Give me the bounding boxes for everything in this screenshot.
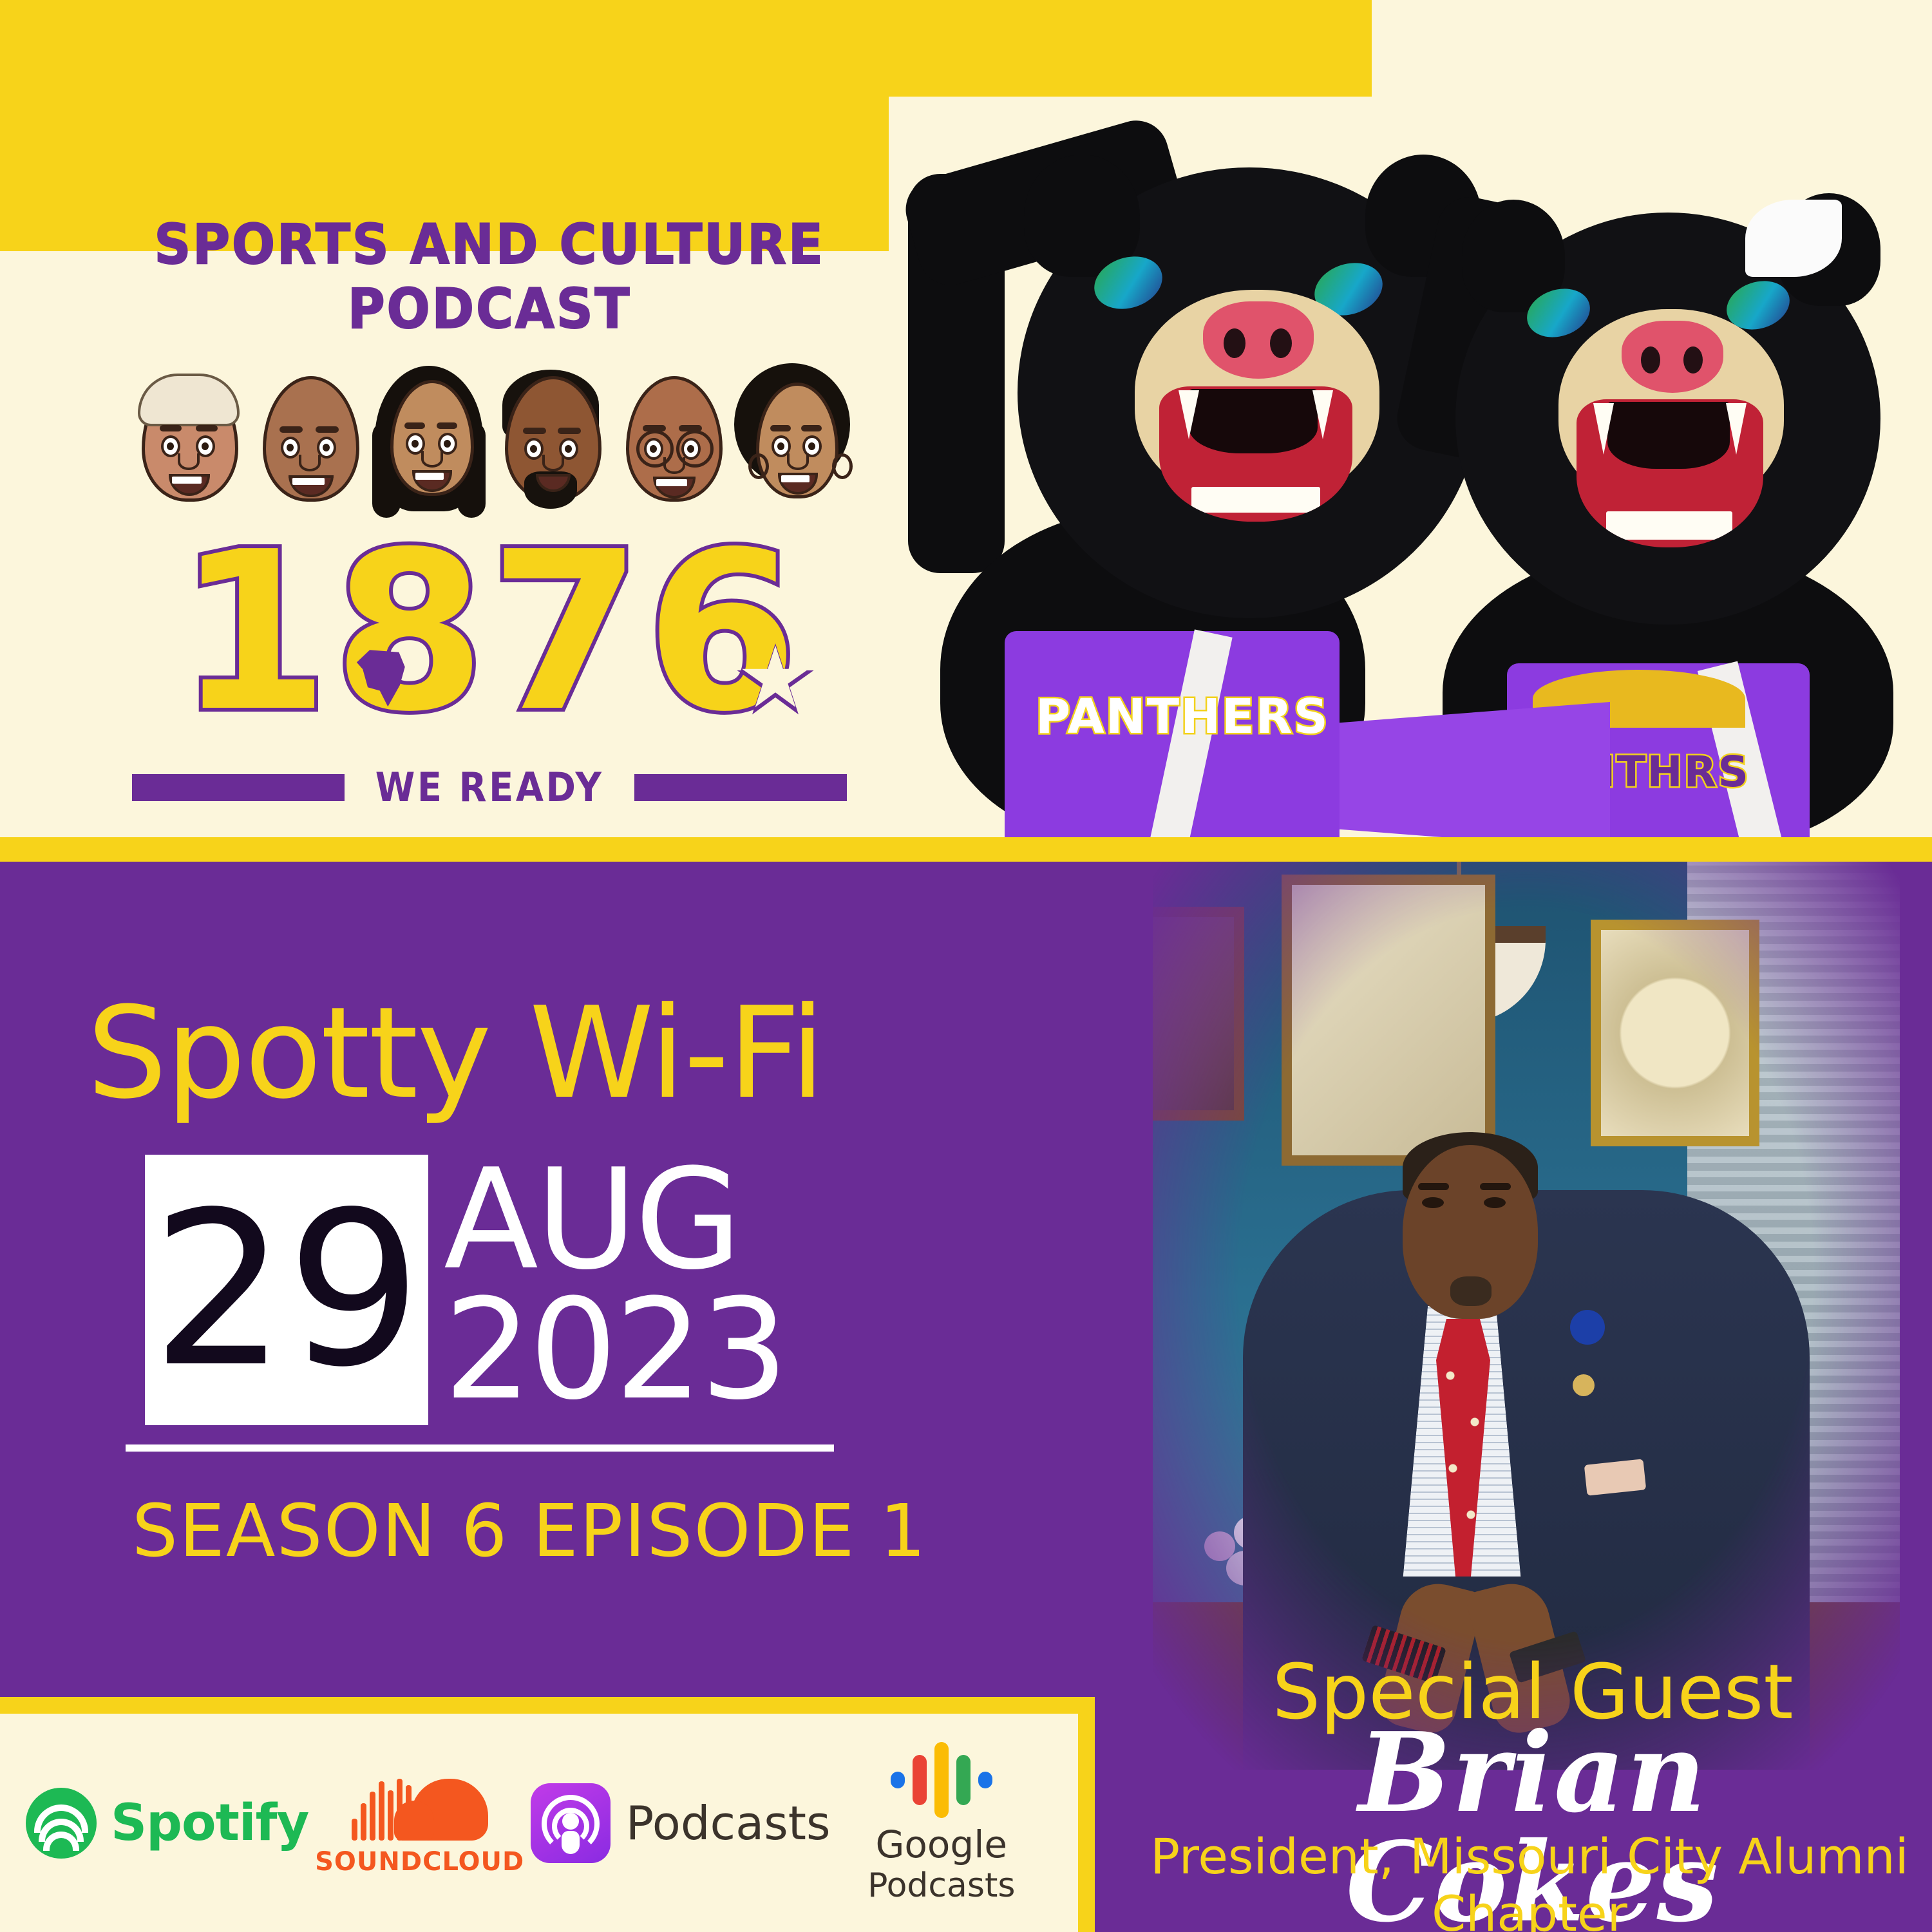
- jersey-text-left: PANTHERS: [1036, 689, 1329, 744]
- platform-google-podcasts[interactable]: Google Podcasts: [831, 1741, 1053, 1905]
- platform-spotify[interactable]: Spotify: [26, 1788, 308, 1859]
- wall-frame-left: [1282, 875, 1495, 1166]
- mascot-bow-icon: [1745, 200, 1842, 277]
- google-podcasts-label-top: Google: [875, 1823, 1007, 1866]
- show-tagline: SPORTS AND CULTURE PODCAST: [128, 213, 851, 341]
- guest-photo: [1153, 862, 1900, 1770]
- soundcloud-label: SOUNDCLOUD: [315, 1847, 524, 1877]
- host-avatar-longhair: [371, 363, 487, 505]
- spotify-icon: [26, 1788, 97, 1859]
- apple-podcasts-label: Podcasts: [626, 1796, 831, 1850]
- apple-podcasts-icon: [531, 1783, 611, 1863]
- host-avatar-row: [97, 357, 882, 505]
- top-panel: SPORTS AND CULTURE PODCAST: [0, 0, 1932, 837]
- horizontal-divider: [126, 1444, 834, 1452]
- soundcloud-icon: [352, 1770, 488, 1841]
- mascot-photo: PANTHERS: [889, 97, 1932, 837]
- date-month-year: AUG 2023: [444, 1155, 786, 1415]
- megaphone-icon: [1340, 702, 1610, 837]
- episode-title: Spotty Wi-Fi: [87, 990, 824, 1117]
- google-podcasts-label-bottom: Podcasts: [867, 1866, 1015, 1905]
- platform-soundcloud[interactable]: SOUNDCLOUD: [308, 1770, 531, 1877]
- section-divider-gold-band: [0, 837, 1932, 862]
- host-avatar-beard: [492, 363, 608, 505]
- date-year: 2023: [444, 1285, 786, 1415]
- episode-date: 29 AUG 2023: [145, 1155, 786, 1425]
- lapel-pin-icon: [1573, 1374, 1595, 1396]
- spotify-label: Spotify: [111, 1794, 308, 1852]
- show-logo-block: SPORTS AND CULTURE PODCAST: [97, 213, 882, 811]
- wall-frame-map: [1591, 920, 1759, 1146]
- google-podcasts-icon: [891, 1741, 992, 1819]
- motto-bar-left: [132, 774, 345, 801]
- date-day: 29: [151, 1184, 422, 1396]
- season-episode-label: SEASON 6 EPISODE 1: [132, 1490, 927, 1573]
- guest-role: President, Missouri City Alumni Chapter: [1133, 1828, 1926, 1932]
- date-month: AUG: [444, 1155, 786, 1285]
- host-avatar-glasses: [613, 363, 729, 505]
- host-avatar-bald: [250, 363, 366, 505]
- motto-text: WE READY: [375, 764, 604, 811]
- wall-frame-far-left: [1153, 907, 1244, 1121]
- motto-row: WE READY: [97, 764, 882, 811]
- podcast-episode-cover: SPORTS AND CULTURE PODCAST: [0, 0, 1932, 1932]
- host-avatar-headwrap: [129, 363, 245, 505]
- pocket-square: [1584, 1459, 1647, 1495]
- date-day-box: 29: [145, 1155, 428, 1425]
- host-avatar-afro: [734, 363, 850, 505]
- motto-bar-right: [634, 774, 847, 801]
- platforms-footer: Spotify SOUNDCLOUD: [0, 1697, 1095, 1932]
- logo-year-number: 1876: [97, 523, 882, 742]
- lapel-flower-icon: [1570, 1310, 1605, 1345]
- platform-apple-podcasts[interactable]: Podcasts: [531, 1783, 831, 1863]
